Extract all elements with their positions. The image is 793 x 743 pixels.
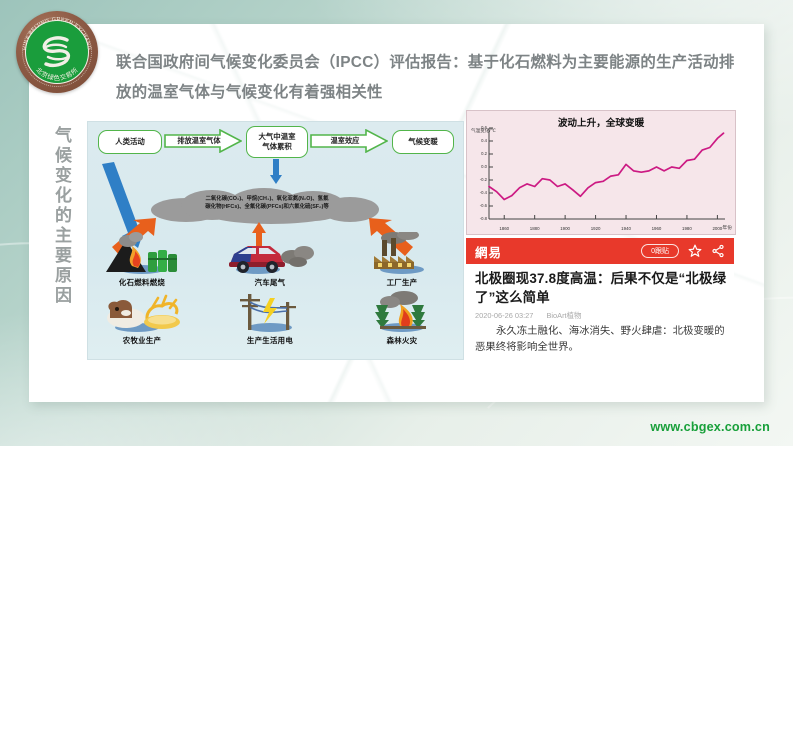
gas-list-line-2: 碳化物(HFCs)、全氟化碳(PFCs)和六氟化硫(SF₆)等	[161, 203, 373, 211]
flow-arrow-emit-ghg: 排放温室气体	[164, 129, 242, 153]
flow-node-climate-warming: 气候变暖	[392, 130, 454, 154]
greenhouse-gas-list: 二氧化碳(CO₂)、甲烷(CH₄)、氧化亚氮(N₂O)、氢氟 碳化物(HFCs)…	[161, 195, 373, 212]
news-article-card: 網易 0跟贴 北极圈现37.8度高温：后果不仅是“北极绿了”这么简单 2020-…	[466, 238, 734, 381]
livestock-farming-icon	[94, 290, 190, 334]
netease-logo[interactable]: 網易	[475, 242, 502, 261]
chart-y-tick-label: 0.4	[475, 138, 487, 143]
source-label: 生产生活用电	[222, 335, 318, 346]
source-label: 化石燃料燃烧	[94, 277, 190, 288]
chart-y-tick-label: -0.2	[475, 177, 487, 182]
section-vertical-label: 气候变化的主要原因	[48, 126, 74, 306]
arrow-down-icon	[269, 159, 283, 185]
chart-y-tick-label: 0.0	[475, 164, 487, 169]
greenhouse-effect-diagram: 人类活动 排放温室气体 大气中温室 气体累积 温室效应 气候变暖 二氧化碳(CO…	[87, 121, 464, 360]
news-top-bar: 網易 0跟贴	[466, 238, 734, 264]
source-fossil-fuel-burning: 化石燃料燃烧	[94, 232, 190, 288]
source-label: 工厂生产	[354, 277, 450, 288]
power-consumption-icon	[222, 290, 318, 334]
flow-arrow-label: 温室效应	[331, 136, 360, 146]
car-exhaust-icon	[222, 232, 318, 276]
news-headline[interactable]: 北极圈现37.8度高温：后果不仅是“北极绿了”这么简单	[475, 269, 727, 307]
footer-url[interactable]: www.cbgex.com.cn	[650, 420, 770, 434]
chart-y-tick-label: -0.4	[475, 190, 487, 195]
chart-x-tick-label: 1980	[682, 226, 692, 231]
news-date: 2020-06-26 03:27	[475, 311, 533, 320]
source-factory-production: 工厂生产	[354, 232, 450, 288]
logo-s-mark-icon	[37, 35, 77, 69]
global-temperature-chart: 波动上升，全球变暖 气温变化/℃ 0.60.40.20.0-0.2-0.4-0.…	[466, 110, 736, 235]
source-forest-fire: 森林火灾	[354, 290, 450, 346]
flow-arrow-label: 排放温室气体	[177, 136, 220, 146]
source-car-exhaust: 汽车尾气	[222, 232, 318, 288]
news-author: BioArt植物	[546, 311, 581, 320]
chart-series-line	[489, 133, 724, 199]
gas-list-line-1: 二氧化碳(CO₂)、甲烷(CH₄)、氧化亚氮(N₂O)、氢氟	[161, 195, 373, 203]
chart-x-tick-label: 1860	[499, 226, 509, 231]
source-label: 森林火灾	[354, 335, 450, 346]
flow-node-line2: 气体累积	[262, 142, 292, 152]
chart-y-tick-label: -0.8	[475, 216, 487, 221]
share-icon[interactable]	[711, 244, 725, 258]
news-meta: 2020-06-26 03:27 BioArt植物	[475, 310, 581, 321]
flow-node-ghg-accumulation: 大气中温室 气体累积	[246, 126, 308, 158]
page-title: 联合国政府间气候变化委员会（IPCC）评估报告：基于化石燃料为主要能源的生产活动…	[116, 48, 736, 108]
chart-y-tick-label: 0.2	[475, 151, 487, 156]
source-livestock-farming: 农牧业生产	[94, 290, 190, 346]
news-body-text: 永久冻土融化、海冰消失、野火肆虐：北极变暖的恶果终将影响全世界。	[475, 324, 725, 356]
forest-fire-icon	[354, 290, 450, 334]
chart-x-tick-label: 1960	[652, 226, 662, 231]
flow-node-line1: 大气中温室	[259, 132, 296, 142]
source-label: 农牧业生产	[94, 335, 190, 346]
chart-y-tick-label: 0.6	[475, 125, 487, 130]
comment-count-badge[interactable]: 0跟贴	[641, 244, 679, 258]
chart-x-tick-label: 1900	[560, 226, 570, 231]
factory-production-icon	[354, 232, 450, 276]
chart-x-axis-label: 年份	[722, 224, 732, 231]
chart-axes	[489, 128, 725, 219]
chart-x-tick-label: 2000	[712, 226, 722, 231]
source-label: 汽车尾气	[222, 277, 318, 288]
greenhouse-gas-cloud: 二氧化碳(CO₂)、甲烷(CH₄)、氧化亚氮(N₂O)、氢氟 碳化物(HFCs)…	[151, 188, 381, 224]
chart-y-tick-label: -0.6	[475, 203, 487, 208]
chart-x-tick-label: 1920	[591, 226, 601, 231]
chart-plot-area	[467, 111, 735, 234]
chart-x-tick-label: 1880	[530, 226, 540, 231]
flow-arrow-greenhouse-effect: 温室效应	[310, 129, 388, 153]
flow-node-human-activity: 人类活动	[98, 130, 162, 154]
fossil-fuel-burning-icon	[94, 232, 190, 276]
star-icon[interactable]	[688, 244, 702, 258]
china-beijing-green-exchange-logo: CHINA BEIJING GREEN EXCHANGE 北京绿色交易所	[16, 11, 98, 93]
source-power-consumption: 生产生活用电	[222, 290, 318, 346]
chart-x-tick-label: 1940	[621, 226, 631, 231]
